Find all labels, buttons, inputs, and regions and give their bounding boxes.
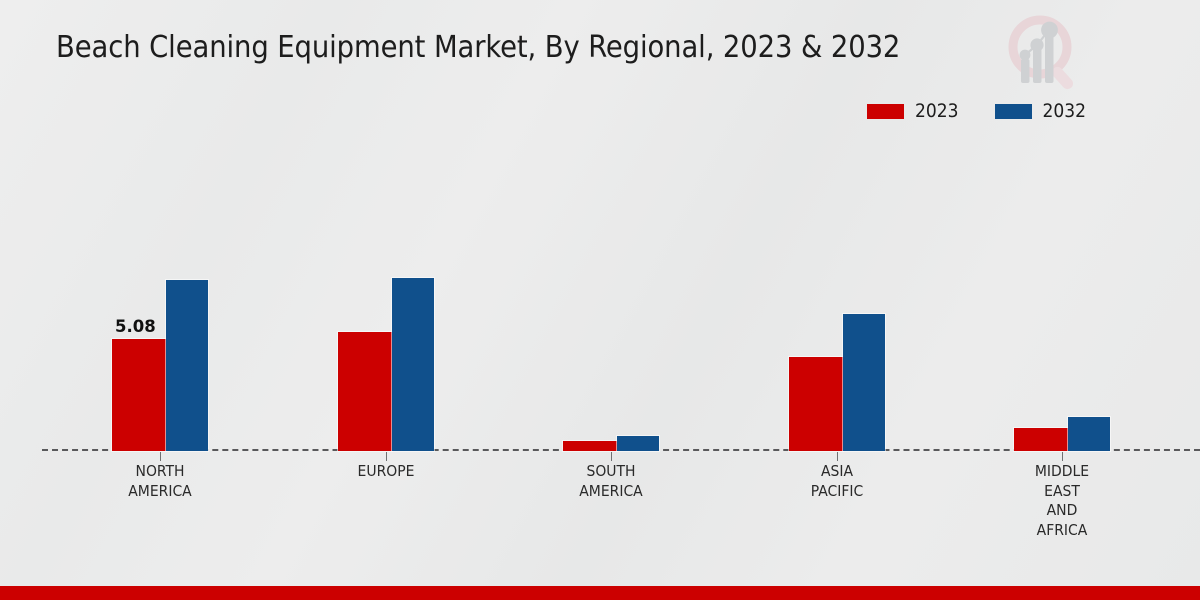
x-axis-label-line: PACIFIC <box>752 482 922 502</box>
x-axis-label-line: AMERICA <box>75 482 245 502</box>
x-axis-label-line: EUROPE <box>301 462 471 482</box>
bar-group-bars <box>338 140 434 451</box>
bar-group-bars: 5.08 <box>112 140 208 451</box>
x-axis-tick <box>611 452 612 461</box>
x-axis-label-line: AFRICA <box>977 521 1147 541</box>
bar-2032-middle-east-and-africa[interactable] <box>1068 417 1110 451</box>
x-axis-label-line: MIDDLE <box>977 462 1147 482</box>
chart-figure: Beach Cleaning Equipment Market, By Regi… <box>0 0 1200 600</box>
bar-2032-south-america[interactable] <box>617 436 659 451</box>
bar-2023-asia-pacific[interactable] <box>789 357 843 451</box>
plot-area: 5.08 <box>42 140 1200 451</box>
x-axis-label-middle-east-and-africa: MIDDLE EAST AND AFRICA <box>977 462 1147 540</box>
bar-group-bars <box>563 140 659 451</box>
x-axis-label-line: SOUTH <box>526 462 696 482</box>
x-axis-label-europe: EUROPE <box>301 462 471 482</box>
legend-swatch-2023 <box>867 104 904 119</box>
bar-group-north-america: 5.08 <box>112 140 208 451</box>
bar-group-asia-pacific <box>789 140 885 451</box>
bar-2023-middle-east-and-africa[interactable] <box>1014 428 1068 451</box>
chart-legend: 2023 2032 <box>867 102 1086 121</box>
legend-label-2023: 2023 <box>915 102 959 121</box>
x-axis-label-line: AMERICA <box>526 482 696 502</box>
bar-2032-europe[interactable] <box>392 278 434 451</box>
page-title: Beach Cleaning Equipment Market, By Regi… <box>56 30 1056 65</box>
y-axis-title-wrap: Market Size in USD Billion <box>0 0 42 600</box>
x-axis-label-asia-pacific: ASIA PACIFIC <box>752 462 922 501</box>
legend-item-2032[interactable]: 2032 <box>995 102 1087 121</box>
x-axis-label-north-america: NORTH AMERICA <box>75 462 245 501</box>
x-axis-label-south-america: SOUTH AMERICA <box>526 462 696 501</box>
bar-group-bars <box>1014 140 1110 451</box>
x-axis-tick <box>160 452 161 461</box>
x-axis-label-line: NORTH <box>75 462 245 482</box>
legend-item-2023[interactable]: 2023 <box>867 102 959 121</box>
x-axis-tick <box>386 452 387 461</box>
x-axis-label-line: ASIA <box>752 462 922 482</box>
x-axis-label-line: AND <box>977 501 1147 521</box>
bar-group-bars <box>789 140 885 451</box>
bar-group-europe <box>338 140 434 451</box>
legend-label-2032: 2032 <box>1043 102 1087 121</box>
bar-value-label: 5.08 <box>115 317 156 336</box>
x-axis-label-line: EAST <box>977 482 1147 502</box>
bar-2023-north-america[interactable]: 5.08 <box>112 339 166 451</box>
bottom-accent-band <box>0 586 1200 600</box>
bar-2032-asia-pacific[interactable] <box>843 314 885 451</box>
x-axis-tick <box>837 452 838 461</box>
bar-group-middle-east-and-africa <box>1014 140 1110 451</box>
legend-swatch-2032 <box>995 104 1032 119</box>
bar-2032-north-america[interactable] <box>166 280 208 451</box>
bar-2023-south-america[interactable] <box>563 441 617 451</box>
bar-2023-europe[interactable] <box>338 332 392 451</box>
x-axis-tick <box>1062 452 1063 461</box>
bar-group-south-america <box>563 140 659 451</box>
